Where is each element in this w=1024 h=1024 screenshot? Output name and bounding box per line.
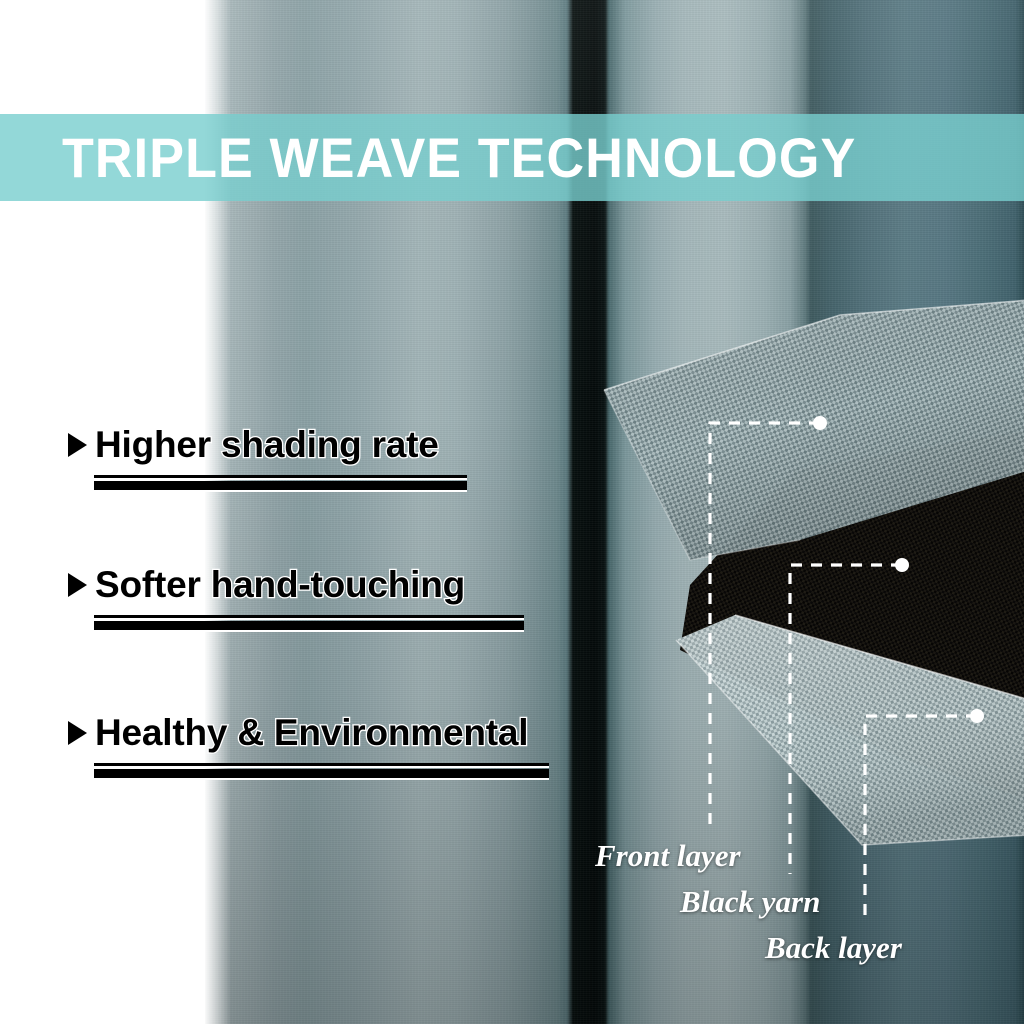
rule-thin — [94, 615, 524, 620]
rule-thin — [94, 475, 467, 480]
feature-underline-rules — [94, 615, 524, 632]
triangle-right-icon — [68, 573, 87, 597]
feature-underline-rules — [94, 763, 549, 780]
feature-item-healthy-environmental: Healthy & Environmental — [68, 712, 549, 780]
title-banner: TRIPLE WEAVE TECHNOLOGY — [0, 114, 1024, 201]
feature-label: Higher shading rate — [95, 424, 439, 466]
product-infographic: TRIPLE WEAVE TECHNOLOGY Higher shading r… — [0, 0, 1024, 1024]
feature-heading: Softer hand-touching — [68, 564, 524, 606]
callout-label-front-layer: Front layer — [595, 838, 741, 874]
feature-underline-rules — [94, 475, 467, 492]
feature-heading: Higher shading rate — [68, 424, 467, 466]
triangle-right-icon — [68, 721, 87, 745]
feature-heading: Healthy & Environmental — [68, 712, 549, 754]
feature-label: Softer hand-touching — [95, 564, 465, 606]
rule-thick — [94, 769, 549, 780]
rule-thick — [94, 481, 467, 492]
rule-thick — [94, 621, 524, 632]
feature-item-higher-shading-rate: Higher shading rate — [68, 424, 467, 492]
feature-label: Healthy & Environmental — [95, 712, 528, 754]
rule-thin — [94, 763, 549, 768]
feature-item-softer-hand-touching: Softer hand-touching — [68, 564, 524, 632]
triangle-right-icon — [68, 433, 87, 457]
callout-label-back-layer: Back layer — [765, 930, 902, 966]
page-title: TRIPLE WEAVE TECHNOLOGY — [62, 130, 856, 186]
callout-label-black-yarn: Black yarn — [680, 884, 820, 920]
